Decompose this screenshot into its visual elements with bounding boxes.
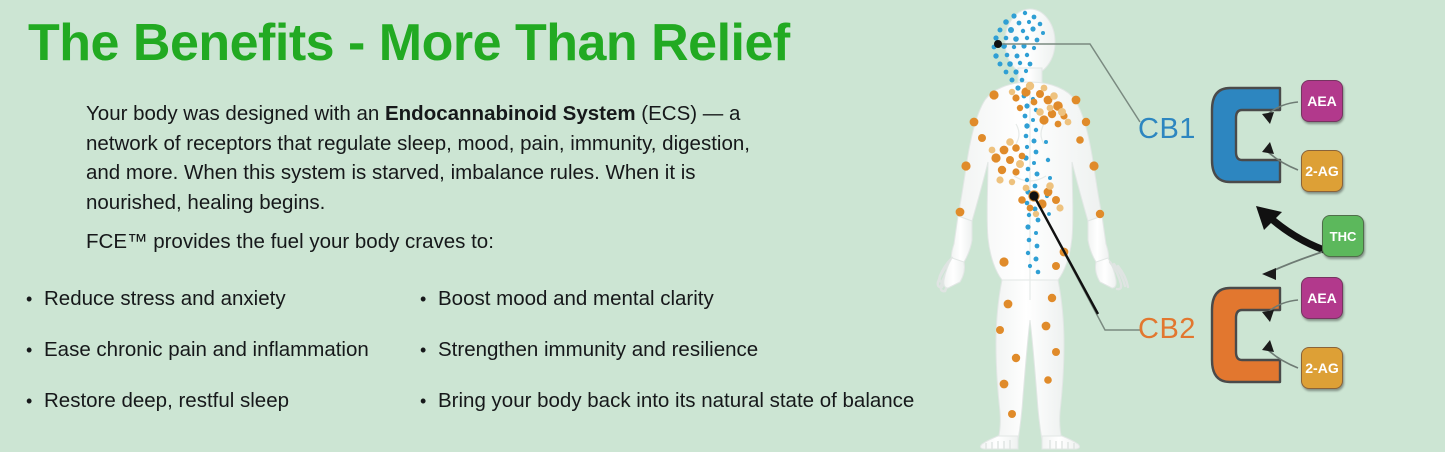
list-item-label: Reduce stress and anxiety <box>44 287 286 311</box>
benefits-list-right: • Boost mood and mental clarity • Streng… <box>420 287 1000 440</box>
ligand-arrowheads <box>1262 112 1274 352</box>
intro-paragraph: Your body was designed with an Endocanna… <box>86 99 786 218</box>
cb2-label: CB2 <box>1138 313 1196 346</box>
human-body-illustration <box>930 0 1445 452</box>
text-content-column: The Benefits - More Than Relief Your bod… <box>0 0 1000 452</box>
fce-tagline: FCE™ provides the fuel your body craves … <box>86 230 494 254</box>
cb2-receptor-shape <box>1212 288 1280 382</box>
list-item: • Reduce stress and anxiety <box>26 287 426 338</box>
receptor-diagram: CB1 CB2 AEA 2-AG THC AEA 2-AG <box>930 0 1445 452</box>
cb1-receptor-shape <box>1212 88 1280 182</box>
list-item-label: Strengthen immunity and resilience <box>438 338 758 362</box>
molecule-badge-2ag-cb1: 2-AG <box>1301 150 1343 192</box>
list-item: • Boost mood and mental clarity <box>420 287 1000 338</box>
bullet-marker-icon: • <box>26 341 44 359</box>
bullet-marker-icon: • <box>26 290 44 308</box>
list-item: • Restore deep, restful sleep <box>26 389 426 440</box>
list-item-label: Restore deep, restful sleep <box>44 389 289 413</box>
benefits-list-left: • Reduce stress and anxiety • Ease chron… <box>26 287 426 440</box>
list-item: • Bring your body back into its natural … <box>420 389 1000 440</box>
list-item: • Ease chronic pain and inflammation <box>26 338 426 389</box>
molecule-badge-2ag-cb2: 2-AG <box>1301 347 1343 389</box>
list-item-label: Bring your body back into its natural st… <box>438 389 914 413</box>
intro-lead-text: Your body was designed with an <box>86 102 385 125</box>
molecule-badge-aea-cb1: AEA <box>1301 80 1343 122</box>
cb1-label: CB1 <box>1138 113 1196 146</box>
infographic-banner: The Benefits - More Than Relief Your bod… <box>0 0 1445 452</box>
list-item-label: Ease chronic pain and inflammation <box>44 338 369 362</box>
intro-emphasis-text: Endocannabinoid System <box>385 102 636 125</box>
list-item: • Strengthen immunity and resilience <box>420 338 1000 389</box>
list-item-label: Boost mood and mental clarity <box>438 287 714 311</box>
thc-to-cb1-arrow <box>1256 206 1324 250</box>
bullet-marker-icon: • <box>26 392 44 410</box>
bullet-marker-icon: • <box>420 392 438 410</box>
bullet-marker-icon: • <box>420 290 438 308</box>
bullet-marker-icon: • <box>420 341 438 359</box>
body-silhouette <box>938 9 1128 449</box>
molecule-badge-thc: THC <box>1322 215 1364 257</box>
page-title: The Benefits - More Than Relief <box>28 14 790 74</box>
thc-to-cb2-arrow <box>1262 252 1322 280</box>
molecule-badge-aea-cb2: AEA <box>1301 277 1343 319</box>
